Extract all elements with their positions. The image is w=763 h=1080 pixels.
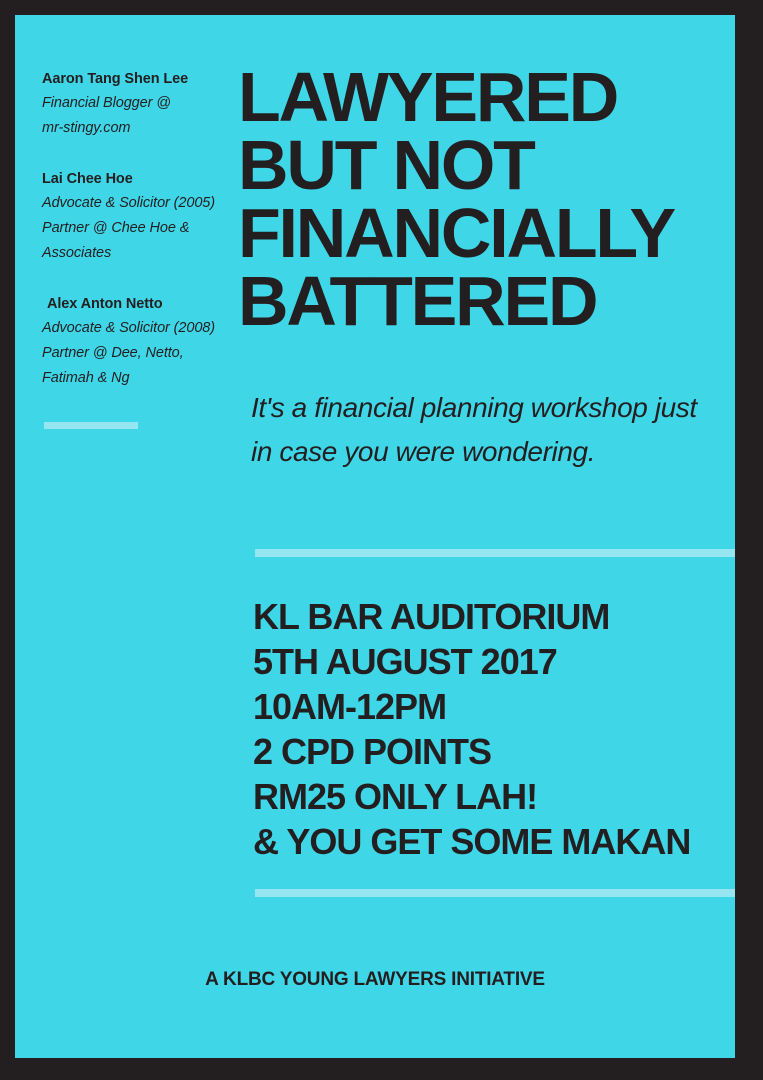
divider-bar-bottom (255, 889, 735, 897)
page-title: LAWYERED BUT NOT FINANCIALLY BATTERED (238, 63, 735, 335)
subtitle-line: in case you were wondering. (251, 430, 735, 474)
speaker-entry: Aaron Tang Shen Lee Financial Blogger @ … (42, 67, 242, 141)
speaker-detail-line: Advocate & Solicitor (2005) (42, 191, 242, 216)
speaker-detail-line: Associates (42, 241, 242, 266)
poster: Aaron Tang Shen Lee Financial Blogger @ … (0, 0, 763, 1080)
speaker-name: Alex Anton Netto (42, 292, 242, 316)
detail-line-venue: KL BAR AUDITORIUM (253, 594, 735, 639)
footer-credit: A KLBC YOUNG LAWYERS INITIATIVE (15, 969, 735, 991)
speaker-detail-line: Partner @ Chee Hoe & (42, 216, 242, 241)
divider-bar-top (255, 549, 735, 557)
subtitle-line: It's a financial planning workshop just (251, 386, 735, 430)
speaker-entry: Lai Chee Hoe Advocate & Solicitor (2005)… (42, 167, 242, 266)
headline-line: BUT NOT (238, 131, 735, 199)
speaker-detail-line: Fatimah & Ng (42, 366, 242, 391)
detail-line-date: 5TH AUGUST 2017 (253, 639, 735, 684)
detail-line-food: & YOU GET SOME MAKAN (253, 819, 735, 864)
subtitle: It's a financial planning workshop just … (251, 386, 735, 474)
detail-line-price: RM25 ONLY LAH! (253, 774, 735, 819)
speaker-name: Lai Chee Hoe (42, 167, 242, 191)
speaker-detail-line: Advocate & Solicitor (2008) (42, 316, 242, 341)
poster-panel: Aaron Tang Shen Lee Financial Blogger @ … (15, 15, 735, 1058)
headline-line: BATTERED (238, 267, 735, 335)
detail-line-cpd-points: 2 CPD POINTS (253, 729, 735, 774)
headline-line: FINANCIALLY (238, 199, 735, 267)
speaker-detail-line: mr-stingy.com (42, 116, 242, 141)
speaker-list: Aaron Tang Shen Lee Financial Blogger @ … (42, 67, 242, 391)
speaker-detail-line: Financial Blogger @ (42, 91, 242, 116)
headline-line: LAWYERED (238, 63, 735, 131)
speaker-detail-line: Partner @ Dee, Netto, (42, 341, 242, 366)
speaker-divider-bar (44, 422, 138, 429)
speaker-entry: Alex Anton Netto Advocate & Solicitor (2… (42, 292, 242, 391)
event-details: KL BAR AUDITORIUM 5TH AUGUST 2017 10AM-1… (253, 594, 735, 864)
speaker-name: Aaron Tang Shen Lee (42, 67, 242, 91)
detail-line-time: 10AM-12PM (253, 684, 735, 729)
